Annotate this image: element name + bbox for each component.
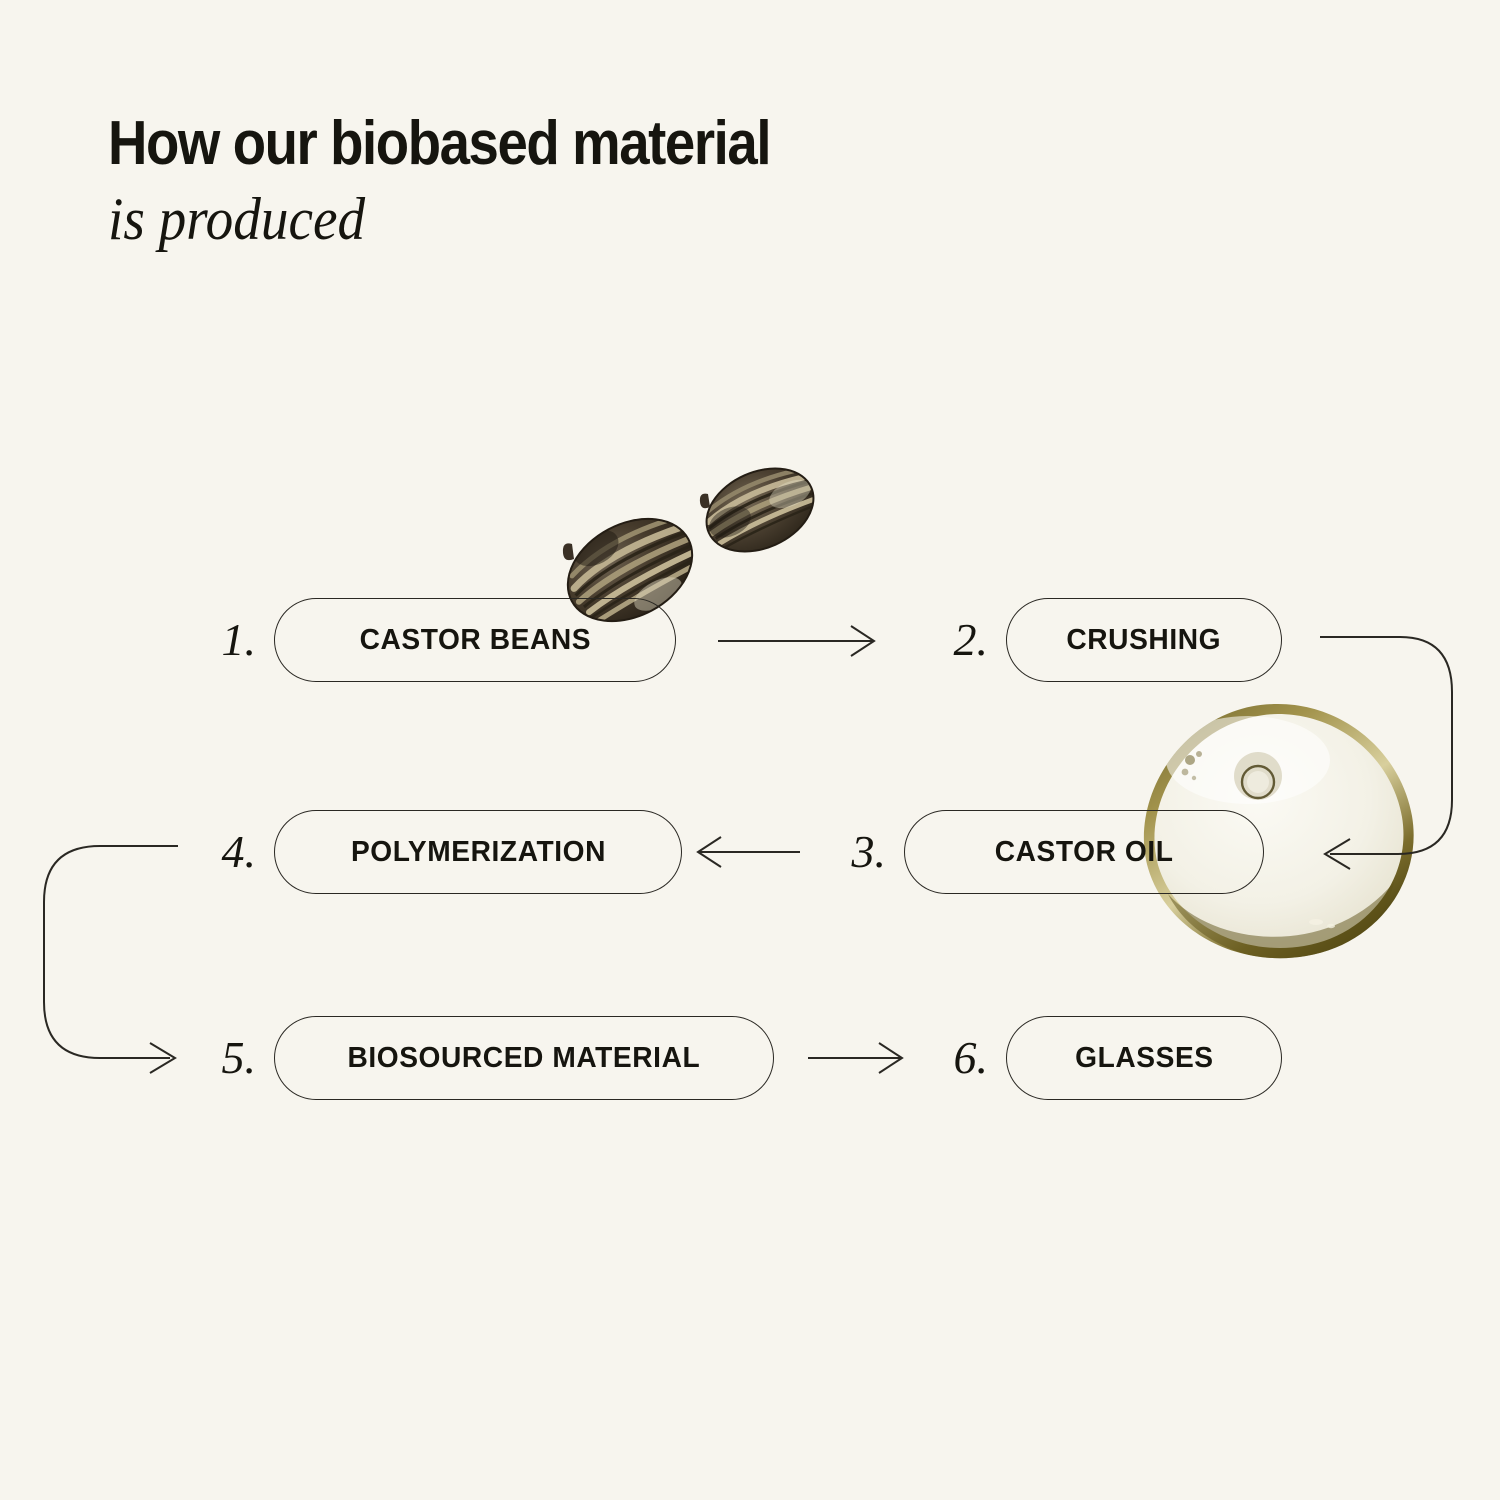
step-2-pill[interactable]: CRUSHING <box>1006 598 1282 682</box>
step-6-label: GLASSES <box>1075 1042 1214 1075</box>
arrow-4-to-5-icon <box>44 846 178 1073</box>
step-3-pill[interactable]: CASTOR OIL <box>904 810 1264 894</box>
step-1-label: CASTOR BEANS <box>359 624 591 657</box>
step-3-label: CASTOR OIL <box>995 836 1174 869</box>
step-6-glasses[interactable]: 6. GLASSES <box>930 1016 1282 1100</box>
step-5-biosourced-material[interactable]: 5. BIOSOURCED MATERIAL <box>198 1016 774 1100</box>
step-3-number: 3. <box>828 829 886 875</box>
step-6-pill[interactable]: GLASSES <box>1006 1016 1282 1100</box>
step-6-number: 6. <box>930 1035 988 1081</box>
step-4-pill[interactable]: POLYMERIZATION <box>274 810 682 894</box>
page-heading: How our biobased material is produced <box>108 108 1108 254</box>
page-title: How our biobased material <box>108 108 988 180</box>
step-1-pill[interactable]: CASTOR BEANS <box>274 598 676 682</box>
step-2-label: CRUSHING <box>1067 624 1222 657</box>
step-4-number: 4. <box>198 829 256 875</box>
arrow-3-to-4-icon <box>698 837 800 867</box>
infographic-page: How our biobased material is produced <box>0 0 1500 1500</box>
step-4-polymerization[interactable]: 4. POLYMERIZATION <box>198 810 682 894</box>
step-3-castor-oil[interactable]: 3. CASTOR OIL <box>828 810 1264 894</box>
step-5-label: BIOSOURCED MATERIAL <box>348 1042 701 1075</box>
step-5-number: 5. <box>198 1035 256 1081</box>
step-4-label: POLYMERIZATION <box>350 836 605 869</box>
arrow-5-to-6-icon <box>808 1043 902 1073</box>
page-subtitle: is produced <box>108 184 1028 254</box>
step-1-castor-beans[interactable]: 1. CASTOR BEANS <box>198 598 676 682</box>
step-5-pill[interactable]: BIOSOURCED MATERIAL <box>274 1016 774 1100</box>
step-2-number: 2. <box>930 617 988 663</box>
step-1-number: 1. <box>198 617 256 663</box>
step-2-crushing[interactable]: 2. CRUSHING <box>930 598 1282 682</box>
